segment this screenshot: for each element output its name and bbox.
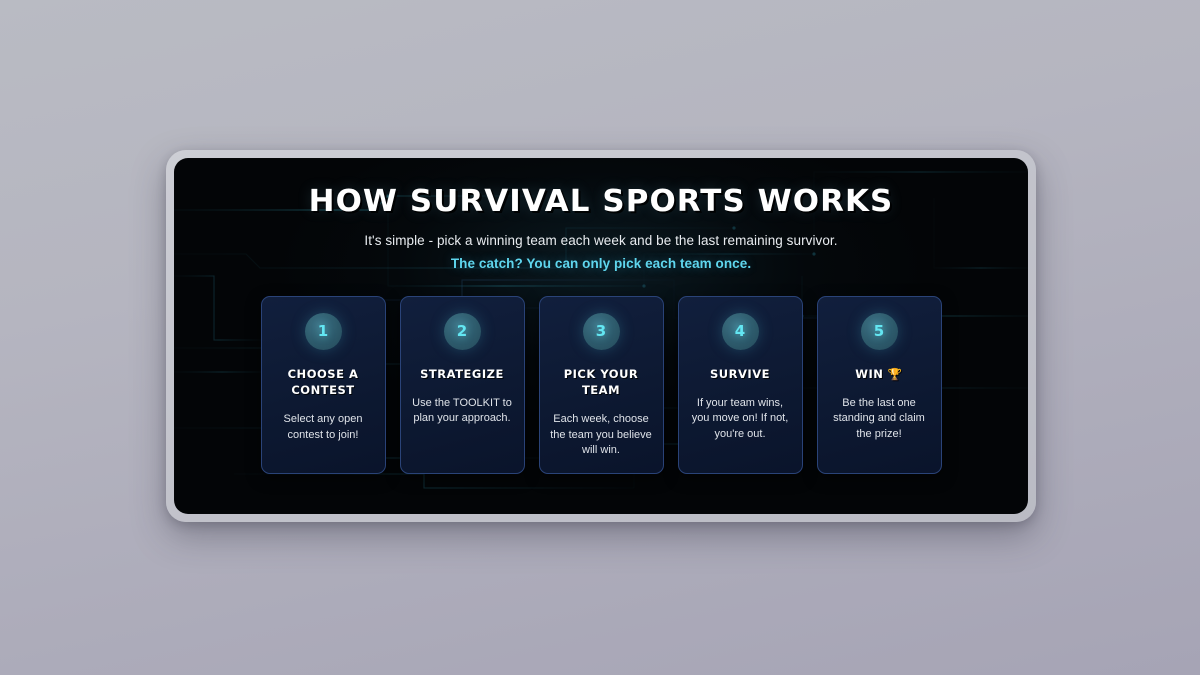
step-description-1: Select any open contest to join! bbox=[272, 412, 375, 443]
step-number-badge-5: 5 bbox=[861, 313, 898, 350]
step-card-4[interactable]: 4 SURVIVE If your team wins, you move on… bbox=[678, 296, 803, 474]
step-number-badge-3: 3 bbox=[583, 313, 620, 350]
step-number-badge-1: 1 bbox=[305, 313, 342, 350]
step-card-2[interactable]: 2 STRATEGIZE Use the TOOLKIT to plan you… bbox=[400, 296, 525, 474]
step-description-5: Be the last one standing and claim the p… bbox=[828, 396, 931, 443]
step-title-5: WIN 🏆 bbox=[855, 366, 903, 382]
step-card-3[interactable]: 3 PICK YOUR TEAM Each week, choose the t… bbox=[539, 296, 664, 474]
step-description-3: Each week, choose the team you believe w… bbox=[550, 412, 653, 459]
step-number-badge-2: 2 bbox=[444, 313, 481, 350]
step-description-2: Use the TOOLKIT to plan your approach. bbox=[411, 396, 514, 427]
step-title-2: STRATEGIZE bbox=[420, 366, 504, 382]
step-number-badge-4: 4 bbox=[722, 313, 759, 350]
page-title: HOW SURVIVAL SPORTS WORKS bbox=[174, 186, 1028, 218]
step-title-4: SURVIVE bbox=[710, 366, 770, 382]
subtitle-text: It's simple - pick a winning team each w… bbox=[174, 233, 1028, 248]
step-title-3: PICK YOUR TEAM bbox=[550, 366, 653, 399]
steps-list: 1 CHOOSE A CONTEST Select any open conte… bbox=[174, 296, 1028, 474]
step-title-1: CHOOSE A CONTEST bbox=[272, 366, 375, 399]
step-card-5[interactable]: 5 WIN 🏆 Be the last one standing and cla… bbox=[817, 296, 942, 474]
step-card-1[interactable]: 1 CHOOSE A CONTEST Select any open conte… bbox=[261, 296, 386, 474]
how-it-works-panel: HOW SURVIVAL SPORTS WORKS It's simple - … bbox=[174, 158, 1028, 514]
step-description-4: If your team wins, you move on! If not, … bbox=[689, 396, 792, 443]
catch-line-text: The catch? You can only pick each team o… bbox=[174, 256, 1028, 271]
device-frame: HOW SURVIVAL SPORTS WORKS It's simple - … bbox=[166, 150, 1036, 522]
